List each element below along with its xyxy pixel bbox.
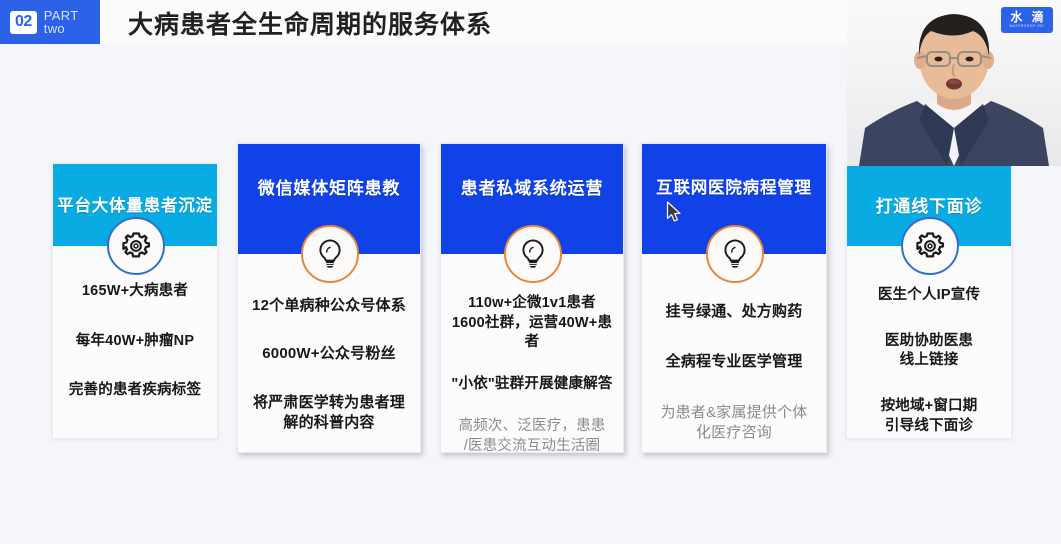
logo-subtext: WATERDROP INC — [1010, 25, 1045, 28]
card-body-platform-volume: 165W+大病患者每年40W+肿瘤NP完善的患者疾病标签 — [53, 282, 217, 401]
card-line: 将严肃医学转为患者理 解的科普内容 — [248, 393, 410, 434]
waterdrop-logo: 水 滴 WATERDROP INC — [1001, 7, 1053, 33]
presenter-video[interactable]: 水 滴 WATERDROP INC — [847, 0, 1061, 166]
gear-icon-badge — [901, 217, 959, 275]
card-title: 互联网医院病程管理 — [656, 174, 812, 198]
card-title: 患者私域系统运营 — [461, 174, 603, 199]
card-body-private-domain-ops: 110w+企微1v1患者 1600社群，运营40W+患者"小依"驻群开展健康解答… — [441, 294, 623, 453]
card-line: 全病程专业医学管理 — [652, 352, 816, 372]
service-card-wechat-matrix[interactable]: 微信媒体矩阵患教12个单病种公众号体系6000W+公众号粉丝将严肃医学转为患者理… — [237, 143, 421, 453]
lightbulb-icon — [316, 238, 344, 270]
card-line: 6000W+公众号粉丝 — [248, 344, 410, 364]
page-title: 大病患者全生命周期的服务体系 — [128, 5, 492, 41]
part-badge: 02 PART two — [0, 0, 100, 44]
part-label-top: PART — [44, 9, 79, 22]
card-line: 165W+大病患者 — [63, 282, 207, 302]
service-card-platform-volume[interactable]: 平台大体量患者沉淀165W+大病患者每年40W+肿瘤NP完善的患者疾病标签 — [52, 163, 218, 439]
card-body-wechat-matrix: 12个单病种公众号体系6000W+公众号粉丝将严肃医学转为患者理 解的科普内容 — [238, 296, 420, 434]
lightbulb-icon-badge — [504, 225, 562, 283]
card-line: 医生个人IP宣传 — [857, 286, 1001, 306]
card-title: 打通线下面诊 — [876, 192, 983, 217]
part-label: PART two — [44, 9, 79, 36]
card-body-offline-consult: 医生个人IP宣传医助协助医患 线上链接按地域+窗口期 引导线下面诊 — [847, 286, 1011, 437]
lightbulb-icon-badge — [301, 225, 359, 283]
card-line: "小依"驻群开展健康解答 — [451, 375, 613, 395]
gear-icon — [915, 231, 945, 261]
lightbulb-icon-badge — [706, 225, 764, 283]
card-line: 高频次、泛医疗，患患 /医患交流互动生活圈 — [451, 417, 613, 453]
card-title: 微信媒体矩阵患教 — [258, 174, 400, 199]
lightbulb-icon — [519, 238, 547, 270]
logo-text: 水 滴 — [1007, 11, 1046, 23]
service-card-offline-consult[interactable]: 打通线下面诊医生个人IP宣传医助协助医患 线上链接按地域+窗口期 引导线下面诊 — [846, 163, 1012, 439]
card-body-internet-hospital: 挂号绿通、处方购药全病程专业医学管理为患者&家属提供个体 化医疗咨询 — [642, 302, 826, 444]
gear-icon-badge — [107, 217, 165, 275]
card-line: 每年40W+肿瘤NP — [63, 332, 207, 352]
lightbulb-icon — [721, 238, 749, 270]
card-line: 医助协助医患 线上链接 — [857, 332, 1001, 371]
card-title: 平台大体量患者沉淀 — [57, 192, 213, 216]
card-line: 为患者&家属提供个体 化医疗咨询 — [652, 403, 816, 444]
part-label-bottom: two — [44, 22, 79, 35]
card-line: 110w+企微1v1患者 1600社群，运营40W+患者 — [451, 294, 613, 353]
card-line: 完善的患者疾病标签 — [63, 381, 207, 401]
presentation-slide: 02 PART two 大病患者全生命周期的服务体系 平台大体量患者沉淀165W… — [0, 0, 1061, 544]
card-line: 12个单病种公众号体系 — [248, 296, 410, 316]
service-card-internet-hospital[interactable]: 互联网医院病程管理挂号绿通、处方购药全病程专业医学管理为患者&家属提供个体 化医… — [641, 143, 827, 453]
gear-icon — [121, 231, 151, 261]
part-number: 02 — [10, 11, 37, 34]
card-line: 按地域+窗口期 引导线下面诊 — [857, 397, 1001, 436]
card-line: 挂号绿通、处方购药 — [652, 302, 816, 322]
service-card-private-domain-ops[interactable]: 患者私域系统运营110w+企微1v1患者 1600社群，运营40W+患者"小依"… — [440, 143, 624, 453]
